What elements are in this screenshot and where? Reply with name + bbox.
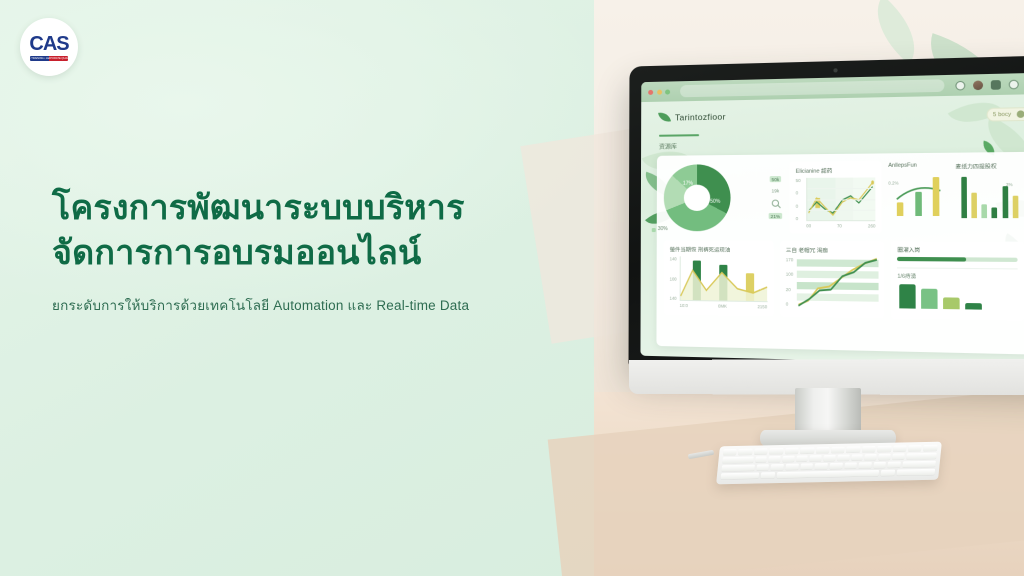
key: [785, 464, 798, 470]
y-tick: 50: [796, 178, 805, 183]
key: [723, 449, 737, 455]
donut-label-primary: 50%: [710, 199, 720, 205]
bars: [898, 283, 1018, 310]
key: [738, 449, 752, 455]
app-brand[interactable]: Tarintozfioor: [659, 105, 1024, 123]
key: [796, 455, 808, 461]
key: [865, 454, 877, 460]
stat-value-3: 21%: [769, 213, 783, 219]
stat-value-1: 50k: [769, 176, 781, 182]
y-axis: 50 0 0 0: [796, 178, 805, 221]
key: [768, 456, 780, 462]
card-title: 三自 老帽冗 渴痂: [786, 246, 878, 255]
key: [873, 462, 886, 468]
key: [816, 447, 830, 453]
bar: [971, 192, 977, 218]
key: [721, 472, 759, 479]
avatar-icon[interactable]: [973, 80, 983, 90]
account-pill[interactable]: 5 bocy: [986, 107, 1024, 122]
x-tick: 0MK: [718, 304, 727, 309]
key: [908, 445, 922, 451]
key: [837, 455, 849, 461]
active-tab-underline: [659, 134, 699, 136]
bar: [943, 297, 960, 309]
divider: [897, 267, 1017, 269]
x-tick: 00: [806, 223, 811, 228]
bar: [900, 284, 916, 308]
key: [846, 446, 860, 452]
key: [769, 448, 783, 454]
bars: [888, 172, 949, 216]
key: [892, 453, 904, 459]
plot-area: [806, 177, 875, 221]
user-icon: [1017, 110, 1024, 118]
y-tick: 100: [670, 276, 679, 281]
nav-item-resources[interactable]: 资源库: [659, 142, 677, 151]
bar: [1013, 196, 1019, 218]
stat-value-2: 19k: [772, 188, 780, 193]
line-chart: 50 0 0 0: [796, 177, 876, 221]
web-app: Tarintozfioor 资源库 5 bocy: [640, 94, 1024, 366]
x-axis: 00 70 260: [806, 223, 875, 228]
bar: [897, 202, 904, 216]
browser-toolbar-icons[interactable]: [955, 79, 1024, 90]
card-title: Elicianine 認药: [796, 166, 876, 175]
bar-chart-2: 3%: [956, 173, 1024, 218]
page-title-line-2: จัดการการอบรมออนไลน์: [52, 231, 572, 276]
combo-chart: 140 100 140: [670, 256, 768, 302]
bar: [982, 205, 988, 218]
y-tick: 170: [786, 257, 795, 262]
key: [878, 454, 890, 460]
donut-label-tertiary: 30%: [658, 226, 668, 232]
slide-canvas: Tarintozfioor 资源库 5 bocy: [0, 0, 1024, 576]
bar-chart-card-1[interactable]: AnllepsFun 0.2%: [888, 160, 949, 234]
shield-icon[interactable]: [955, 80, 965, 90]
progress-title: 圈濯入岗: [897, 246, 1017, 254]
bar-chart-1: 0.2%: [888, 172, 949, 216]
key: [771, 464, 784, 470]
dashboard-panel: 50% 17% 30% 50k 19k 21%: [656, 152, 1024, 355]
combo-chart-card[interactable]: 螢件当期恢 刑裤死运现油 140 100 140: [664, 240, 774, 317]
x-tick: 70: [837, 223, 842, 228]
key: [722, 457, 753, 464]
bar: [1002, 186, 1008, 218]
account-pill-label: 5 bocy: [993, 111, 1011, 118]
y-tick: 0: [796, 203, 805, 208]
monitor-screen: Tarintozfioor 资源库 5 bocy: [640, 73, 1024, 366]
progress-track: [897, 257, 1017, 262]
key: [754, 448, 768, 454]
bars: [956, 173, 1024, 218]
key: [760, 472, 775, 478]
x-tick: 260: [868, 223, 876, 228]
wallet-icon[interactable]: [991, 80, 1001, 90]
cas-logo: CAS BOARD • TRAINING • LEARNING CORPORAT…: [20, 18, 78, 76]
donut-label-secondary: 17%: [683, 181, 693, 187]
monitor: Tarintozfioor 资源库 5 bocy: [629, 66, 1024, 366]
webcam-icon: [833, 68, 837, 72]
key: [902, 461, 935, 468]
trend-line: [681, 256, 767, 301]
page-title-line-1: โครงการพัฒนาระบบบริหาร: [52, 186, 572, 231]
y-axis: 170 100 20 0: [786, 257, 795, 307]
window-controls[interactable]: [648, 89, 670, 94]
key: [800, 463, 813, 469]
donut-chart: 50% 17% 30%: [664, 164, 731, 231]
card-title: AnllepsFun: [888, 162, 949, 169]
bar: [992, 207, 998, 218]
close-dot-icon[interactable]: [648, 89, 653, 94]
key: [721, 465, 754, 472]
key: [923, 445, 937, 451]
key: [815, 463, 828, 469]
dashboard-row-bottom: 螢件当期恢 刑裤死运现油 140 100 140: [664, 240, 1024, 321]
bar: [921, 289, 938, 309]
key: [782, 456, 794, 462]
key: [906, 453, 937, 460]
progress-sub-label: 1/6痔湧: [897, 272, 1017, 281]
logo-strip-right: CORPORATE QUALITY: [49, 56, 68, 61]
key: [823, 455, 835, 461]
key: [859, 462, 872, 468]
key: [785, 448, 799, 454]
app-header: Tarintozfioor 资源库 5 bocy: [659, 105, 1024, 152]
key: [800, 447, 814, 453]
page-subtitle: ยกระดับการให้บริการด้วยเทคโนโลยี Automat…: [52, 294, 572, 316]
y-tick: 0: [796, 216, 805, 221]
wall-leaf-icon: [860, 0, 932, 64]
spacebar-key: [777, 470, 879, 478]
extension-icon[interactable]: [1009, 79, 1019, 89]
key: [897, 469, 935, 476]
bar: [966, 303, 983, 309]
monitor-bezel: Tarintozfioor 资源库 5 bocy: [629, 55, 1024, 378]
slide-copy: โครงการพัฒนาระบบบริหาร จัดการการอบรมออนไ…: [52, 186, 572, 316]
x-axis: 10:0 0MK 2150: [680, 303, 768, 309]
key: [831, 447, 845, 453]
logo-strip-left: BOARD • TRAINING • LEARNING: [30, 56, 49, 61]
area-chart-card[interactable]: 三自 老帽冗 渴痂 170 100 20 0: [780, 241, 885, 319]
logo-strip: BOARD • TRAINING • LEARNING CORPORATE QU…: [30, 56, 68, 61]
plot-area: [680, 256, 767, 302]
key: [851, 454, 863, 460]
x-tick: 10:0: [680, 303, 688, 308]
card-title: 麦纸力四提股权: [955, 162, 1023, 171]
y-tick: 140: [670, 256, 679, 261]
y-tick: 100: [786, 272, 795, 277]
zoom-dot-icon[interactable]: [665, 89, 670, 94]
minimize-dot-icon[interactable]: [657, 89, 662, 94]
address-bar[interactable]: [680, 79, 944, 97]
leaf-icon: [658, 111, 671, 124]
y-axis: 140 100 140: [670, 256, 679, 301]
y-tick: 20: [786, 287, 795, 292]
key: [893, 445, 907, 451]
plot-area: [796, 257, 878, 308]
key: [756, 464, 769, 470]
bar: [915, 192, 922, 216]
x-tick: 2150: [757, 304, 767, 309]
bar: [933, 177, 940, 216]
key: [829, 463, 842, 469]
key: [880, 470, 895, 476]
y-tick: 0: [796, 191, 805, 196]
line-chart-card[interactable]: Elicianine 認药 50 0 0 0: [789, 161, 881, 234]
dashboard-row-top: 50% 17% 30% 50k 19k 21%: [664, 159, 1024, 234]
key: [755, 456, 767, 462]
y-tick: 140: [670, 296, 679, 301]
progress-card[interactable]: 圈濯入岗 1/6痔湧: [891, 241, 1024, 321]
area-chart: 170 100 20 0: [786, 257, 878, 308]
app-brand-name: Tarintozfioor: [675, 111, 726, 122]
area-series: [796, 257, 878, 308]
logo-wordmark: CAS: [29, 34, 68, 54]
progress-fill: [897, 257, 966, 262]
donut-side-stats: 50k 19k 21%: [768, 162, 784, 234]
keyboard[interactable]: [716, 442, 942, 485]
donut-chart-card[interactable]: 50% 17% 30%: [664, 162, 762, 234]
key: [862, 446, 876, 452]
bar-chart-card-2[interactable]: 麦纸力四提股权 3%: [955, 159, 1024, 234]
key: [877, 446, 891, 452]
key: [844, 462, 857, 468]
key: [888, 461, 901, 467]
magnifier-icon[interactable]: [772, 200, 779, 207]
card-title: 螢件当期恢 刑裤死运现油: [670, 245, 767, 254]
y-tick: 0: [786, 301, 795, 306]
key: [810, 455, 822, 461]
bar: [961, 177, 967, 218]
